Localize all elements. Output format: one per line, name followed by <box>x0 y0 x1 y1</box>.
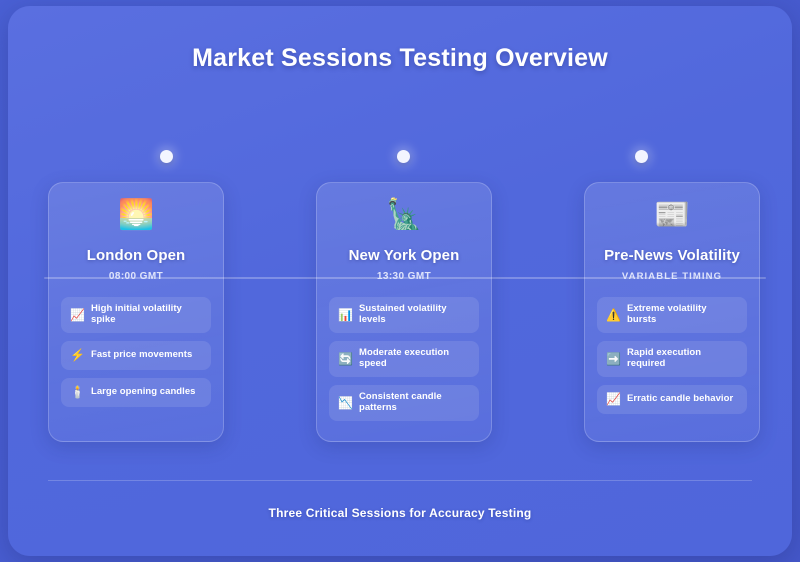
feature-label: Fast price movements <box>91 350 192 361</box>
statue-of-liberty-icon: 🗽 <box>329 201 479 233</box>
session-time: 08:00 GMT <box>61 271 211 282</box>
session-title: London Open <box>61 247 211 264</box>
feature-label: Large opening candles <box>91 387 196 398</box>
session-title: Pre-News Volatility <box>597 247 747 264</box>
refresh-icon: 🔄 <box>338 353 352 365</box>
arrow-right-icon: ➡️ <box>606 353 620 365</box>
feature-item: 📊 Sustained volatility levels <box>329 297 479 333</box>
feature-item: 📈 High initial volatility spike <box>61 297 211 333</box>
sunrise-icon: 🌅 <box>61 201 211 233</box>
feature-item: 📉 Consistent candle patterns <box>329 385 479 421</box>
feature-item: ⚠️ Extreme volatility bursts <box>597 297 747 333</box>
page-title: Market Sessions Testing Overview <box>8 44 792 73</box>
footer-divider <box>48 480 752 481</box>
feature-label: Erratic candle behavior <box>627 394 733 405</box>
feature-item: 🕯️ Large opening candles <box>61 378 211 407</box>
session-cards: 🌅 London Open 08:00 GMT 📈 High initial v… <box>48 182 760 442</box>
lightning-bolt-icon: ⚡ <box>70 349 84 361</box>
feature-label: High initial volatility spike <box>91 304 202 326</box>
footer-caption: Three Critical Sessions for Accuracy Tes… <box>8 506 792 520</box>
timeline-dot-slot <box>523 148 760 164</box>
chart-increasing-icon: 📈 <box>70 309 84 321</box>
timeline-dots <box>48 148 760 164</box>
feature-label: Moderate execution speed <box>359 348 470 370</box>
feature-label: Consistent candle patterns <box>359 392 470 414</box>
feature-item: ⚡ Fast price movements <box>61 341 211 370</box>
feature-item: ➡️ Rapid execution required <box>597 341 747 377</box>
session-card[interactable]: 📰 Pre-News Volatility VARIABLE TIMING ⚠️… <box>584 182 760 442</box>
feature-label: Extreme volatility bursts <box>627 304 738 326</box>
feature-list: 📈 High initial volatility spike ⚡ Fast p… <box>61 297 211 407</box>
candle-icon: 🕯️ <box>70 386 84 398</box>
feature-list: ⚠️ Extreme volatility bursts ➡️ Rapid ex… <box>597 297 747 414</box>
feature-label: Rapid execution required <box>627 348 738 370</box>
timeline-dot-slot <box>48 148 285 164</box>
overview-panel: Market Sessions Testing Overview 🌅 Londo… <box>8 6 792 556</box>
timeline-dot-icon <box>160 150 173 163</box>
chart-decreasing-icon: 📉 <box>338 397 352 409</box>
session-card[interactable]: 🌅 London Open 08:00 GMT 📈 High initial v… <box>48 182 224 442</box>
session-time: 13:30 GMT <box>329 271 479 282</box>
bar-chart-icon: 📊 <box>338 309 352 321</box>
session-time: VARIABLE TIMING <box>597 271 747 282</box>
feature-item: 📈 Erratic candle behavior <box>597 385 747 414</box>
feature-item: 🔄 Moderate execution speed <box>329 341 479 377</box>
session-card[interactable]: 🗽 New York Open 13:30 GMT 📊 Sustained vo… <box>316 182 492 442</box>
feature-list: 📊 Sustained volatility levels 🔄 Moderate… <box>329 297 479 421</box>
screenshot-viewport: Market Sessions Testing Overview 🌅 Londo… <box>0 0 800 562</box>
session-title: New York Open <box>329 247 479 264</box>
timeline-dot-slot <box>285 148 522 164</box>
timeline-dot-icon <box>397 150 410 163</box>
feature-label: Sustained volatility levels <box>359 304 470 326</box>
timeline-dot-icon <box>635 150 648 163</box>
newspaper-icon: 📰 <box>597 201 747 233</box>
warning-icon: ⚠️ <box>606 309 620 321</box>
chart-increasing-icon: 📈 <box>606 393 620 405</box>
